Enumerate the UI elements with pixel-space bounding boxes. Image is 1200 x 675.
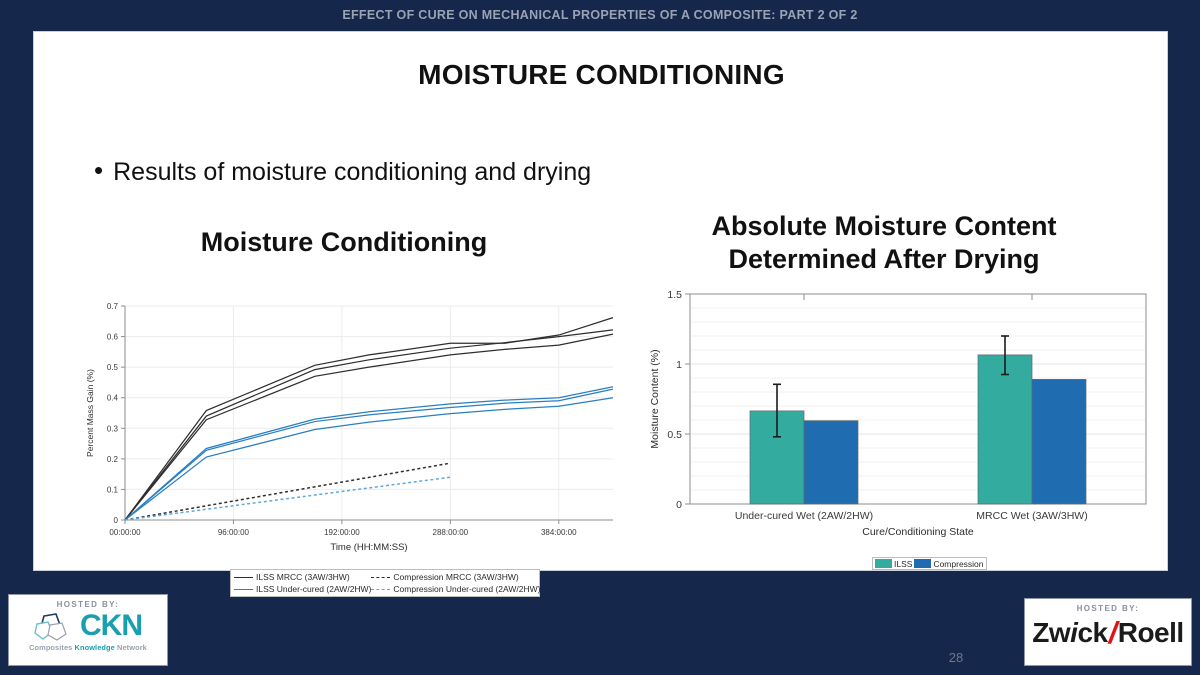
y-tick-label: 0.5	[667, 429, 682, 441]
bullet-label: Results of moisture conditioning and dry…	[113, 157, 591, 187]
line-chart-legend: ILSS MRCC (3AW/3HW) Compression MRCC (3A…	[230, 569, 540, 597]
ckn-tagline-mid: Knowledge	[75, 643, 115, 652]
zwick-slash-icon: /	[1108, 615, 1118, 651]
legend-swatch-line-icon	[371, 577, 390, 578]
legend-item-ilss-undercured: ILSS Under-cured (2AW/2HW)	[234, 584, 371, 594]
y-axis-title: Moisture Content (%)	[649, 349, 661, 448]
zwick-name-part3: ck	[1077, 617, 1107, 649]
legend-label: ILSS Under-cured (2AW/2HW)	[256, 584, 371, 594]
legend-swatch-line-icon	[234, 589, 253, 590]
data-series-line	[125, 389, 613, 520]
legend-label: Compression Under-cured (2AW/2HW)	[393, 584, 540, 594]
right-chart-title: Absolute Moisture Content Determined Aft…	[634, 210, 1134, 276]
y-tick-label: 1	[676, 359, 682, 371]
ckn-wordmark: CKN	[80, 611, 142, 641]
ckn-hosted-by-label: HOSTED BY:	[9, 595, 167, 609]
bar-chart-svg: 00.511.5Moisture Content (%)Under-cured …	[634, 282, 1154, 557]
data-series-line	[125, 330, 613, 520]
zwick-name-part1: Zw	[1032, 617, 1070, 649]
legend-swatch-line-icon	[234, 577, 253, 578]
data-series-line	[125, 463, 450, 520]
moisture-conditioning-figure: 00.10.20.30.40.50.60.700:00:0096:00:0019…	[61, 272, 621, 562]
legend-label: Compression MRCC (3AW/3HW)	[393, 572, 518, 582]
ckn-pentagons-icon	[34, 610, 82, 642]
data-series-line	[125, 477, 450, 520]
right-chart-title-line2: Determined After Drying	[634, 243, 1134, 276]
bullet-marker-icon: •	[94, 157, 103, 183]
ckn-tagline: Composites Knowledge Network	[9, 643, 167, 652]
y-tick-label: 0.7	[107, 302, 119, 311]
y-axis-title: Percent Mass Gain (%)	[85, 369, 95, 457]
y-tick-label: 1.5	[667, 289, 682, 301]
ckn-logo: HOSTED BY: CKN Composites Knowledge Netw…	[8, 594, 168, 666]
bar-compression-2	[1032, 379, 1086, 504]
x-tick-label: 96:00:00	[218, 528, 250, 537]
legend-label-ilss: ILSS	[894, 559, 912, 569]
bar-compression-1	[804, 421, 858, 504]
legend-label: ILSS MRCC (3AW/3HW)	[256, 572, 350, 582]
ckn-logo-row: CKN	[9, 609, 167, 642]
y-tick-label: 0.1	[107, 485, 119, 494]
x-axis-title: Time (HH:MM:SS)	[330, 542, 407, 553]
zwick-hosted-by-label: HOSTED BY:	[1025, 599, 1191, 613]
page-number: 28	[936, 650, 976, 665]
ckn-tagline-post: Network	[115, 643, 147, 652]
y-tick-label: 0.6	[107, 333, 119, 342]
absolute-moisture-content-figure: 00.511.5Moisture Content (%)Under-cured …	[634, 282, 1154, 557]
y-tick-label: 0.4	[107, 394, 119, 403]
y-tick-label: 0.5	[107, 363, 119, 372]
zwickroell-logo: HOSTED BY: Zwick/Roell	[1024, 598, 1192, 666]
bullet-item: • Results of moisture conditioning and d…	[94, 157, 1094, 187]
left-chart-title: Moisture Conditioning	[79, 227, 609, 258]
x-tick-label: 288:00:00	[433, 528, 469, 537]
ckn-tagline-pre: Composites	[29, 643, 74, 652]
legend-label-compression: Compression	[933, 559, 983, 569]
legend-swatch-ilss	[875, 559, 892, 568]
zwick-wordmark: Zwick/Roell	[1025, 613, 1191, 653]
line-chart-svg: 00.10.20.30.40.50.60.700:00:0096:00:0019…	[61, 272, 621, 562]
y-tick-label: 0.3	[107, 424, 119, 433]
y-tick-label: 0.2	[107, 455, 119, 464]
bar-ilss-2	[978, 355, 1032, 504]
zwick-name-part4: Roell	[1118, 617, 1184, 649]
bar-chart-legend: ILSS Compression	[872, 557, 987, 570]
banner-title: EFFECT OF CURE ON MECHANICAL PROPERTIES …	[342, 8, 857, 22]
zwick-name-part2: i	[1070, 617, 1077, 649]
page-title: MOISTURE CONDITIONING	[34, 59, 1169, 91]
legend-swatch-compression	[914, 559, 931, 568]
x-category-label: MRCC Wet (3AW/3HW)	[976, 510, 1087, 522]
slide-content-panel: MOISTURE CONDITIONING • Results of moist…	[33, 31, 1168, 571]
x-tick-label: 00:00:00	[109, 528, 141, 537]
right-chart-title-line1: Absolute Moisture Content	[634, 210, 1134, 243]
y-tick-label: 0	[114, 516, 119, 525]
legend-swatch-line-icon	[371, 589, 390, 590]
x-axis-title: Cure/Conditioning State	[862, 526, 974, 538]
x-tick-label: 192:00:00	[324, 528, 360, 537]
x-tick-label: 384:00:00	[541, 528, 577, 537]
legend-item-compression-mrcc: Compression MRCC (3AW/3HW)	[371, 572, 540, 582]
legend-item-ilss-mrcc: ILSS MRCC (3AW/3HW)	[234, 572, 371, 582]
data-series-line	[125, 387, 613, 520]
x-category-label: Under-cured Wet (2AW/2HW)	[735, 510, 873, 522]
y-tick-label: 0	[676, 499, 682, 511]
legend-item-compression-undercured: Compression Under-cured (2AW/2HW)	[371, 584, 540, 594]
slide-banner: EFFECT OF CURE ON MECHANICAL PROPERTIES …	[0, 0, 1200, 30]
